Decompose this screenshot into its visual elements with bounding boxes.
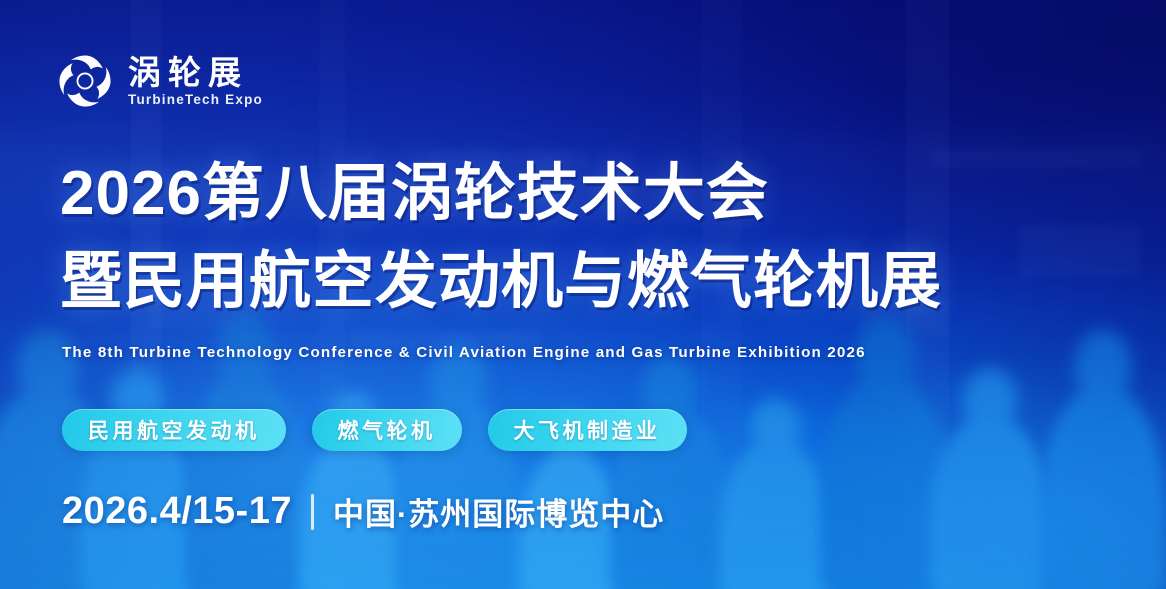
detail-divider — [311, 494, 314, 530]
brand-name-cn: 涡轮展 — [128, 55, 263, 91]
event-venue: 中国·苏州国际博览中心 — [333, 489, 664, 534]
headline-line-2: 暨民用航空发动机与燃气轮机展 — [60, 238, 942, 326]
turbine-swirl-icon — [56, 52, 114, 110]
brand-name-en: TurbineTech Expo — [128, 92, 263, 107]
brand-logo-text: 涡轮展 TurbineTech Expo — [128, 55, 263, 107]
english-subtitle: The 8th Turbine Technology Conference & … — [62, 344, 866, 361]
headline-line-1: 2026第八届涡轮技术大会 — [60, 150, 942, 238]
topic-pill-aero-engine[interactable]: 民用航空发动机 — [62, 409, 286, 451]
event-date: 2026.4/15-17 — [62, 490, 292, 533]
headline: 2026第八届涡轮技术大会 暨民用航空发动机与燃气轮机展 — [60, 150, 942, 326]
expo-banner: 涡轮展 TurbineTech Expo 2026第八届涡轮技术大会 暨民用航空… — [0, 0, 1166, 589]
brand-logo: 涡轮展 TurbineTech Expo — [56, 52, 263, 110]
topic-pill-large-aircraft[interactable]: 大飞机制造业 — [488, 409, 687, 451]
banner-content: 涡轮展 TurbineTech Expo 2026第八届涡轮技术大会 暨民用航空… — [0, 0, 1166, 589]
topic-pill-group: 民用航空发动机 燃气轮机 大飞机制造业 — [62, 409, 687, 451]
event-details: 2026.4/15-17 中国·苏州国际博览中心 — [62, 489, 664, 534]
topic-pill-gas-turbine[interactable]: 燃气轮机 — [312, 409, 462, 451]
